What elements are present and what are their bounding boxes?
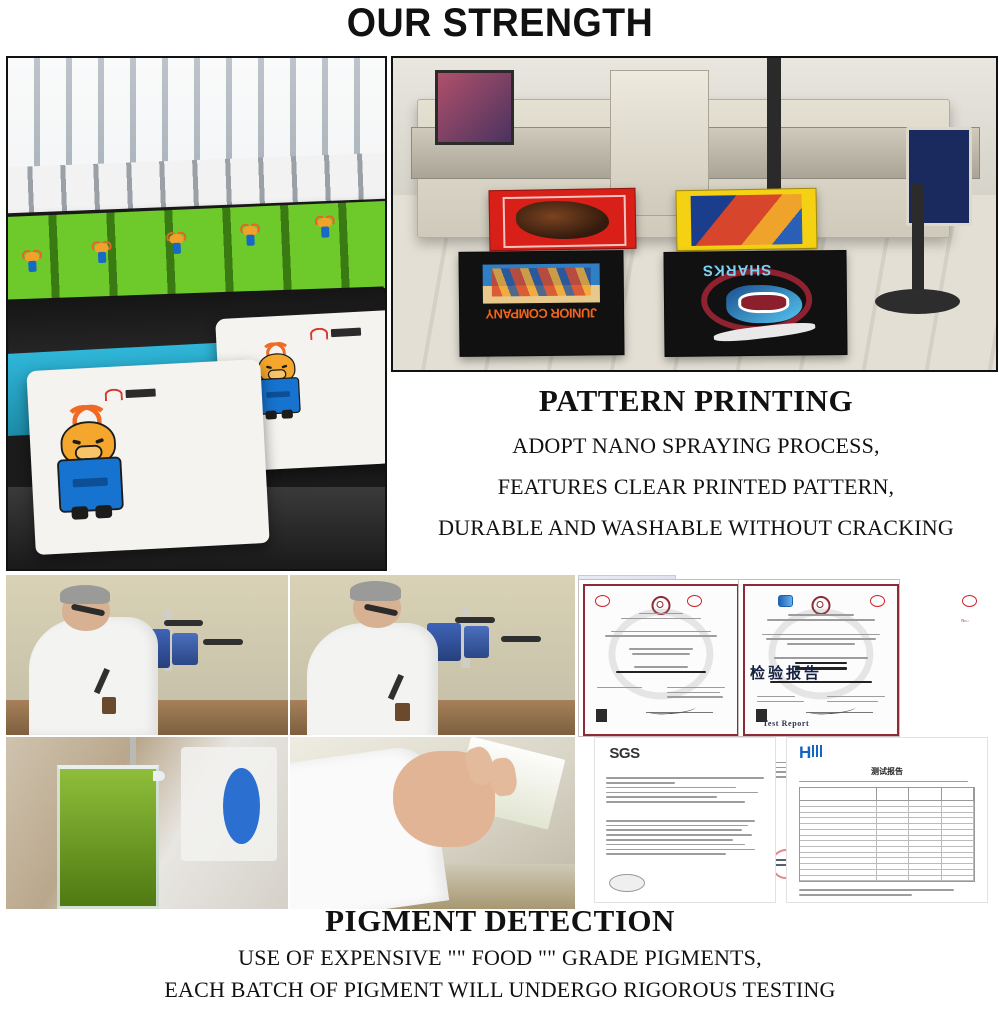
ox-leg-left-icon (265, 410, 277, 419)
carousel-wall (8, 58, 385, 170)
printer-column (767, 58, 781, 202)
certificate-signature (806, 712, 873, 714)
line (762, 634, 879, 636)
report-number-label: No.: (961, 618, 969, 623)
cell (909, 858, 941, 863)
pigment-detection-text-block: PIGMENT DETECTION USE OF EXPENSIVE "" FO… (0, 903, 1000, 1009)
lab-technician-photo-2 (290, 575, 575, 735)
print-tray-yellow (676, 188, 818, 252)
cell (909, 876, 941, 881)
cell (877, 818, 909, 823)
cell (877, 807, 909, 812)
print-tray-junior-company: JUNIOR COMPANY (459, 251, 625, 358)
h-report-table (799, 787, 975, 882)
line (632, 653, 691, 655)
cell (800, 830, 877, 835)
ox-eye-right-icon (281, 364, 287, 368)
technician-hair (60, 585, 111, 604)
sgs-brand-logo: SGS (609, 745, 639, 762)
line (606, 825, 749, 827)
pattern-printing-line-2: FEATURES CLEAR PRINTED PATTERN, (392, 474, 1000, 500)
lab-mixer-unit (172, 633, 197, 665)
line (606, 782, 676, 784)
cell (877, 801, 909, 806)
brand-wordmark (125, 388, 155, 398)
table-col-result (877, 788, 909, 800)
certificate-signature (646, 712, 713, 714)
cell (800, 864, 877, 869)
cell (942, 841, 974, 846)
ox-leg-left-icon (71, 506, 88, 520)
ox-mascot-mini-icon (317, 217, 334, 238)
ox-eye-left-icon (72, 439, 81, 444)
printed-tshirt-front (26, 359, 269, 555)
cell (800, 853, 877, 858)
sample-bottle (102, 697, 116, 715)
test-report-title-cn: 检验报告 (578, 662, 994, 683)
sharks-artwork: SHARKS (690, 264, 821, 339)
h-logo-letter: H (799, 745, 811, 760)
yellow-garment-artwork (691, 194, 803, 246)
cell (942, 853, 974, 858)
junior-company-artwork (483, 264, 601, 304)
screen-printing-carousel-photo (6, 56, 387, 571)
cell (800, 813, 877, 818)
test-report-title-en: Test Report (578, 719, 994, 728)
cell (942, 858, 974, 863)
cell (800, 836, 877, 841)
cell (877, 853, 909, 858)
cell (800, 858, 877, 863)
cell (942, 824, 974, 829)
line (787, 643, 856, 645)
ox-body-icon (247, 234, 255, 245)
certificate-company-lines (597, 627, 725, 640)
h-report-header-lines (799, 777, 975, 785)
line (827, 696, 885, 698)
line (766, 638, 876, 640)
line (606, 849, 755, 851)
cell (877, 824, 909, 829)
printer-monitor (435, 70, 513, 145)
line (606, 829, 742, 831)
line (606, 792, 758, 794)
cell (877, 836, 909, 841)
cell (877, 813, 909, 818)
cell (909, 824, 941, 829)
ox-chest-label-icon (73, 477, 108, 487)
brand-logo-mark (310, 325, 362, 340)
cell (800, 841, 877, 846)
ox-body-icon (321, 226, 329, 237)
lab-mixer-unit (464, 626, 490, 658)
ox-mascot-mini-icon (24, 252, 41, 273)
table-col-test-item (800, 788, 877, 800)
line (597, 687, 641, 689)
line (606, 844, 745, 846)
cell (942, 870, 974, 875)
ccc-logo-icon (687, 595, 702, 607)
line (667, 696, 722, 698)
line (629, 648, 693, 650)
lab-clamp-arm (164, 620, 203, 626)
green-pigment-beaker (57, 765, 159, 909)
print-tray-sharks: SHARKS (664, 250, 848, 357)
certificate-detail-lines (667, 684, 725, 702)
brand-wordmark (331, 327, 361, 337)
cell (909, 841, 941, 846)
pigment-detection-line-1: USE OF EXPENSIVE "" FOOD "" GRADE PIGMEN… (0, 945, 1000, 971)
cell (942, 801, 974, 806)
lab-clamp-arm (203, 639, 242, 645)
ox-leg-right-icon (95, 505, 112, 519)
floor-stand-pole (912, 183, 924, 302)
pigment-detection-title: PIGMENT DETECTION (0, 903, 1000, 939)
cell (909, 813, 941, 818)
ccc-logo-icon (962, 595, 977, 607)
certificate-standard-lines (597, 645, 725, 658)
sgs-header-lines (606, 774, 764, 806)
certificate-detail-lines-left (597, 684, 649, 692)
cell (909, 847, 941, 852)
cell (800, 824, 877, 829)
cell (909, 870, 941, 875)
page-root: OUR STRENGTH (0, 0, 1000, 1000)
print-tray-red (489, 188, 637, 252)
line (605, 635, 717, 637)
technician-hair (350, 581, 401, 600)
shark-mouth-icon (739, 293, 789, 314)
line (799, 781, 968, 783)
table-header-row (800, 788, 974, 801)
brand-logo-mark (104, 386, 156, 401)
sgs-test-report: SGS (594, 737, 776, 903)
green-pigment-beaker-photo (6, 737, 288, 909)
pattern-printing-text-block: PATTERN PRINTING ADOPT NANO SPRAYING PRO… (392, 383, 1000, 556)
lab-clamp-arm (455, 617, 495, 623)
ox-mascot-mini-icon (168, 234, 185, 255)
certificate-detail-lines-left (757, 693, 812, 706)
red-garment-artwork (516, 200, 609, 240)
ox-eye-right-icon (95, 438, 104, 444)
certificate-company-lines (757, 630, 885, 648)
line (611, 631, 711, 633)
cell (800, 847, 877, 852)
line (606, 853, 726, 855)
line (606, 839, 733, 841)
cell (800, 818, 877, 823)
ox-body-icon (98, 251, 106, 262)
certificate-heading-lines (597, 610, 725, 623)
cell (877, 870, 909, 875)
line (606, 820, 755, 822)
line (827, 701, 878, 703)
table-row (800, 876, 974, 882)
page-title: OUR STRENGTH (30, 2, 970, 44)
h-test-report: H 测试报告 (786, 737, 988, 903)
sample-bottle (395, 703, 409, 721)
lab-clamp-arm (501, 636, 541, 642)
hand-test-strip-photo (290, 737, 575, 909)
cell (942, 813, 974, 818)
cell (800, 801, 877, 806)
line (757, 696, 795, 698)
blue-equipment-shape (223, 768, 260, 844)
cell (877, 847, 909, 852)
line (667, 687, 725, 689)
cell (942, 807, 974, 812)
floor-stand-base (875, 289, 959, 314)
technician-lab-coat (307, 623, 438, 735)
pigment-detection-line-2: EACH BATCH OF PIGMENT WILL UNDERGO RIGOR… (0, 977, 1000, 1003)
table-col-mdl (909, 788, 941, 800)
junior-company-label: JUNIOR COMPANY (473, 306, 610, 320)
cell (877, 841, 909, 846)
certificates-panel: No.: 检验报告 Test Report SGS (578, 575, 994, 909)
h-report-title: 测试报告 (787, 766, 987, 777)
line (639, 613, 682, 615)
cqc-logo-icon (595, 595, 610, 607)
cell (942, 818, 974, 823)
ox-body-icon (28, 261, 36, 272)
ox-leg-right-icon (281, 409, 293, 418)
sharks-label: SHARKS (690, 262, 784, 280)
cell (877, 858, 909, 863)
technician-lab-coat (29, 617, 159, 735)
pattern-printing-title: PATTERN PRINTING (392, 383, 1000, 419)
table-col-limit (942, 788, 974, 800)
cell (909, 864, 941, 869)
cell (800, 807, 877, 812)
cqc-logo-icon (870, 595, 885, 607)
pattern-printing-line-3: DURABLE AND WASHABLE WITHOUT CRACKING (392, 515, 1000, 541)
cell (909, 818, 941, 823)
line (606, 796, 717, 798)
lab-technician-photo-1 (6, 575, 288, 735)
certificate-heading-lines (757, 611, 885, 624)
line (799, 889, 954, 891)
cell (877, 876, 909, 881)
ox-body-icon (173, 243, 181, 254)
line (799, 894, 912, 896)
cell (942, 830, 974, 835)
ox-horn-logo-icon (310, 327, 329, 340)
cell (800, 876, 877, 881)
cell (909, 807, 941, 812)
line (788, 614, 854, 616)
sgs-stamp-icon (609, 874, 645, 892)
iso-logo-icon (778, 595, 793, 607)
ox-mascot-mini-icon (242, 225, 259, 246)
ox-mascot-mini-icon (94, 242, 111, 263)
line (606, 787, 736, 789)
cell (877, 864, 909, 869)
line (606, 834, 752, 836)
cell (942, 847, 974, 852)
line (767, 619, 874, 621)
pattern-printing-line-1: ADOPT NANO SPRAYING PROCESS, (392, 433, 1000, 459)
ox-horn-logo-icon (104, 388, 123, 401)
cell (909, 853, 941, 858)
ox-eye-left-icon (266, 365, 272, 369)
line (621, 618, 700, 620)
sgs-result-lines (606, 817, 764, 858)
h-logo-grid-icon (812, 745, 823, 757)
cell (909, 830, 941, 835)
line (606, 801, 745, 803)
cell (877, 830, 909, 835)
cell (942, 836, 974, 841)
ox-chest-label-icon (266, 390, 290, 397)
h-brand-logo: H (799, 745, 823, 760)
line (606, 777, 764, 779)
cell (909, 801, 941, 806)
cell (942, 864, 974, 869)
line (774, 657, 868, 659)
cell (942, 876, 974, 881)
certification-logo-row (595, 595, 978, 607)
h-report-footnotes (799, 886, 975, 899)
cell (800, 870, 877, 875)
dtg-flatbed-printer-photo: JUNIOR COMPANY SHARKS (391, 56, 998, 372)
cell (909, 836, 941, 841)
line (757, 701, 804, 703)
line (667, 692, 720, 694)
